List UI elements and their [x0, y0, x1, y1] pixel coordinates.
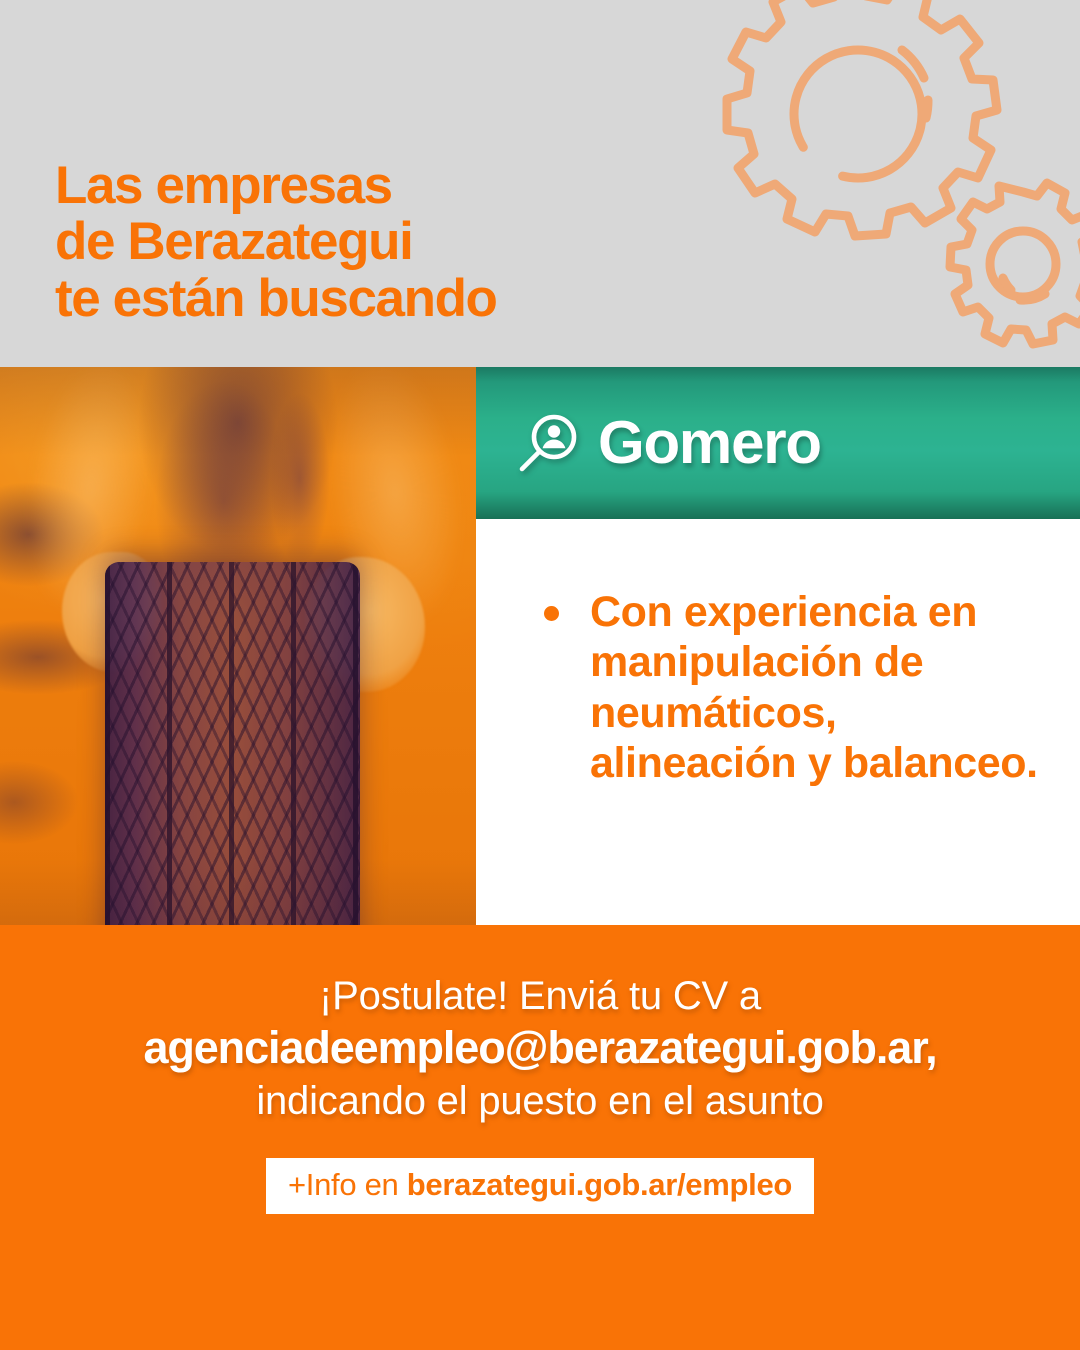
call-to-action-panel: ¡Postulate! Enviá tu CV a agenciadeemple…: [0, 925, 1080, 1350]
requirement-item: Con experiencia en manipulación de neumá…: [538, 587, 1050, 788]
job-title-panel: Gomero: [476, 367, 1080, 519]
gear-large-icon: [727, 0, 997, 236]
more-info-prefix: +Info en: [288, 1167, 407, 1202]
photo-vignette: [0, 367, 476, 925]
gears-decoration: [668, 0, 1080, 364]
more-info-url[interactable]: berazategui.gob.ar/empleo: [407, 1167, 792, 1202]
cta-subject-note: indicando el puesto en el asunto: [0, 1078, 1080, 1124]
cta-email-address[interactable]: agenciadeempleo@berazategui.gob.ar,: [0, 1022, 1080, 1074]
cta-apply-text: ¡Postulate! Enviá tu CV a: [0, 925, 1080, 1019]
page-title: Las empresas de Berazategui te están bus…: [55, 158, 497, 327]
more-info-badge[interactable]: +Info en berazategui.gob.ar/empleo: [266, 1158, 814, 1214]
job-title: Gomero: [598, 413, 821, 473]
job-posting-poster: Las empresas de Berazategui te están bus…: [0, 0, 1080, 1350]
bullet-dot-icon: [544, 606, 559, 621]
requirement-text: Con experiencia en manipulación de neumá…: [590, 588, 1038, 787]
worker-tire-photo: [0, 367, 476, 925]
gear-small-icon: [950, 183, 1080, 344]
requirements-panel: Con experiencia en manipulación de neumá…: [476, 519, 1080, 925]
requirements-list: Con experiencia en manipulación de neumá…: [538, 587, 1050, 788]
person-search-icon: [516, 412, 580, 476]
header-band: Las empresas de Berazategui te están bus…: [0, 0, 1080, 367]
